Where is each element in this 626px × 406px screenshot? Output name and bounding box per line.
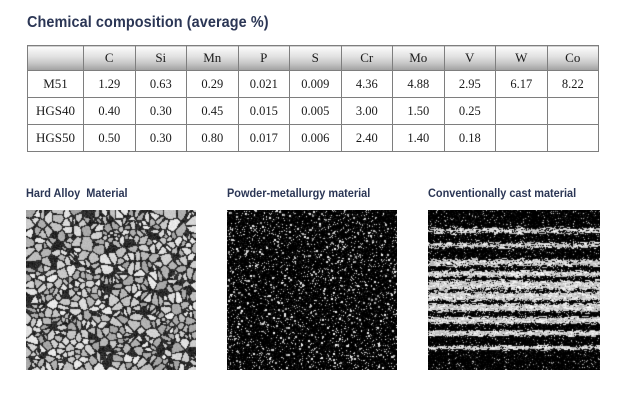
cell-hgs40-v: 0.25 — [444, 98, 496, 125]
cell-m51-mn: 0.29 — [187, 71, 239, 98]
micrograph-figure-group: Hard Alloy Material Powder-metallurgy ma… — [0, 188, 626, 388]
cell-hgs50-mn: 0.80 — [187, 125, 239, 152]
table-row: M51 1.29 0.63 0.29 0.021 0.009 4.36 4.88… — [28, 71, 599, 98]
cell-hgs40-p: 0.015 — [238, 98, 290, 125]
cell-hgs50-w — [496, 125, 548, 152]
row-label-hgs40: HGS40 — [28, 98, 84, 125]
column-header-mn: Mn — [187, 46, 239, 71]
cell-hgs40-w — [496, 98, 548, 125]
cell-hgs40-cr: 3.00 — [341, 98, 393, 125]
cell-m51-c: 1.29 — [84, 71, 136, 98]
cell-hgs40-c: 0.40 — [84, 98, 136, 125]
cell-hgs50-p: 0.017 — [238, 125, 290, 152]
column-header-v: V — [444, 46, 496, 71]
table-corner-cell — [28, 46, 84, 71]
table-row: HGS50 0.50 0.30 0.80 0.017 0.006 2.40 1.… — [28, 125, 599, 152]
cell-hgs40-co — [547, 98, 599, 125]
cell-hgs40-mo: 1.50 — [393, 98, 445, 125]
row-label-m51: M51 — [28, 71, 84, 98]
chemical-composition-table-container: C Si Mn P S Cr Mo V W Co M51 1.29 0.63 0… — [27, 45, 599, 152]
column-header-c: C — [84, 46, 136, 71]
figure-conventionally-cast-material: Conventionally cast material — [428, 188, 600, 370]
column-header-cr: Cr — [341, 46, 393, 71]
figure-caption: Powder-metallurgy material — [227, 188, 389, 201]
cell-hgs40-mn: 0.45 — [187, 98, 239, 125]
column-header-si: Si — [135, 46, 187, 71]
cell-hgs50-cr: 2.40 — [341, 125, 393, 152]
cell-hgs50-v: 0.18 — [444, 125, 496, 152]
figure-hard-alloy-material: Hard Alloy Material — [26, 188, 196, 370]
cell-hgs50-co — [547, 125, 599, 152]
figure-caption: Hard Alloy Material — [26, 188, 188, 201]
cell-m51-p: 0.021 — [238, 71, 290, 98]
column-header-p: P — [238, 46, 290, 71]
micrograph-image-conventionally-cast — [428, 210, 600, 370]
column-header-s: S — [290, 46, 342, 71]
cell-hgs40-si: 0.30 — [135, 98, 187, 125]
column-header-w: W — [496, 46, 548, 71]
cell-hgs50-s: 0.006 — [290, 125, 342, 152]
cell-hgs50-si: 0.30 — [135, 125, 187, 152]
cell-m51-s: 0.009 — [290, 71, 342, 98]
chemical-composition-table: C Si Mn P S Cr Mo V W Co M51 1.29 0.63 0… — [27, 45, 599, 152]
table-head: C Si Mn P S Cr Mo V W Co — [28, 46, 599, 71]
column-header-mo: Mo — [393, 46, 445, 71]
row-label-hgs50: HGS50 — [28, 125, 84, 152]
page-title: Chemical composition (average %) — [27, 14, 269, 32]
cell-hgs50-mo: 1.40 — [393, 125, 445, 152]
cell-m51-si: 0.63 — [135, 71, 187, 98]
cell-m51-w: 6.17 — [496, 71, 548, 98]
cell-hgs50-c: 0.50 — [84, 125, 136, 152]
table-body: M51 1.29 0.63 0.29 0.021 0.009 4.36 4.88… — [28, 71, 599, 152]
micrograph-image-hard-alloy — [26, 210, 196, 370]
figure-powder-metallurgy-material: Powder-metallurgy material — [227, 188, 397, 370]
table-row: HGS40 0.40 0.30 0.45 0.015 0.005 3.00 1.… — [28, 98, 599, 125]
cell-m51-v: 2.95 — [444, 71, 496, 98]
cell-m51-co: 8.22 — [547, 71, 599, 98]
column-header-co: Co — [547, 46, 599, 71]
micrograph-image-powder-metallurgy — [227, 210, 397, 370]
cell-m51-mo: 4.88 — [393, 71, 445, 98]
figure-caption: Conventionally cast material — [428, 188, 591, 201]
cell-hgs40-s: 0.005 — [290, 98, 342, 125]
table-header-row: C Si Mn P S Cr Mo V W Co — [28, 46, 599, 71]
cell-m51-cr: 4.36 — [341, 71, 393, 98]
